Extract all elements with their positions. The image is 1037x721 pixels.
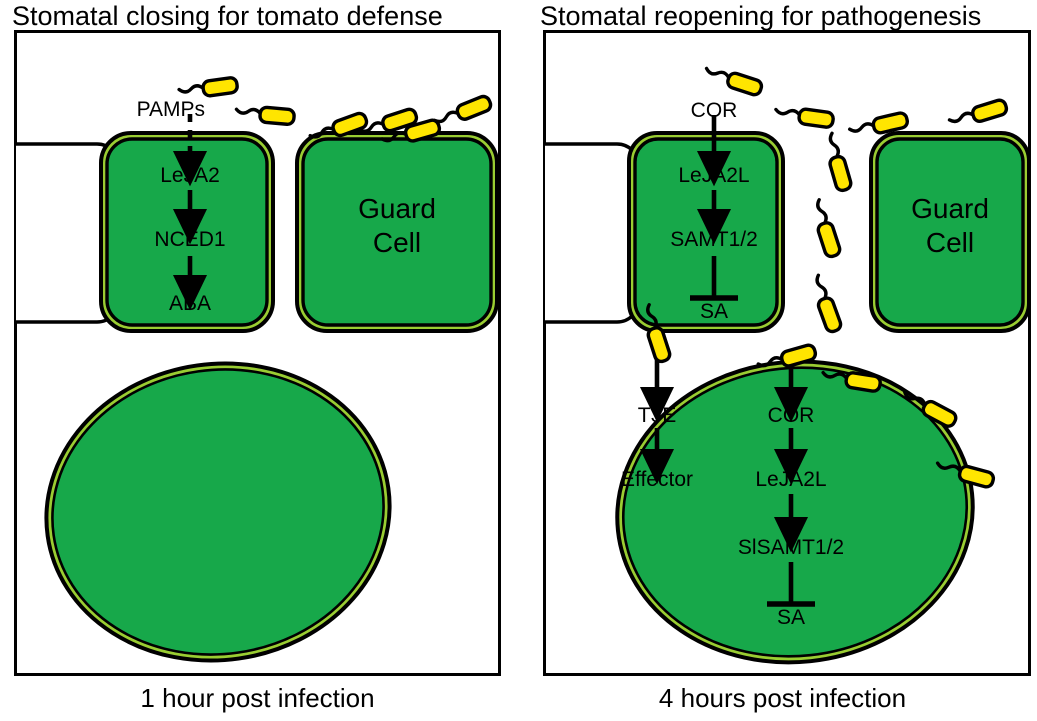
left-panel-frame xyxy=(14,30,501,676)
right-label-sa-guard: SA xyxy=(700,300,728,324)
right-label-cor-meso: COR xyxy=(768,404,815,428)
right-guard-cell-label-line2: Cell xyxy=(926,226,974,259)
right-label-cor-top: COR xyxy=(691,99,738,123)
right-label-samt: SAMT1/2 xyxy=(670,228,758,252)
left-panel-caption: 1 hour post infection xyxy=(0,684,515,712)
right-panel-frame xyxy=(543,30,1031,676)
left-label-nced1: NCED1 xyxy=(154,228,225,252)
right-panel-title: Stomatal reopening for pathogenesis xyxy=(540,1,981,31)
left-guard-cell-label-line2: Cell xyxy=(373,226,421,259)
left-label-aba: ABA xyxy=(169,292,211,316)
right-label-sa-meso: SA xyxy=(777,606,805,630)
right-label-slsamt: SlSAMT1/2 xyxy=(738,536,844,560)
right-label-leja2l: LeJA2L xyxy=(678,164,749,188)
right-panel-caption: 4 hours post infection xyxy=(528,684,1037,712)
right-label-t3e: T3E xyxy=(638,404,677,428)
right-label-effector: Effector xyxy=(621,468,693,492)
right-guard-cell-label-line1: Guard xyxy=(911,192,989,225)
left-label-pamps: PAMPs xyxy=(137,98,205,122)
left-panel-title: Stomatal closing for tomato defense xyxy=(12,1,443,31)
left-label-leja2: LeJA2 xyxy=(160,164,220,188)
figure-canvas: Stomatal closing for tomato defense Stom… xyxy=(0,0,1037,721)
left-guard-cell-label-line1: Guard xyxy=(358,192,436,225)
right-label-leja2l-meso: LeJA2L xyxy=(755,468,826,492)
